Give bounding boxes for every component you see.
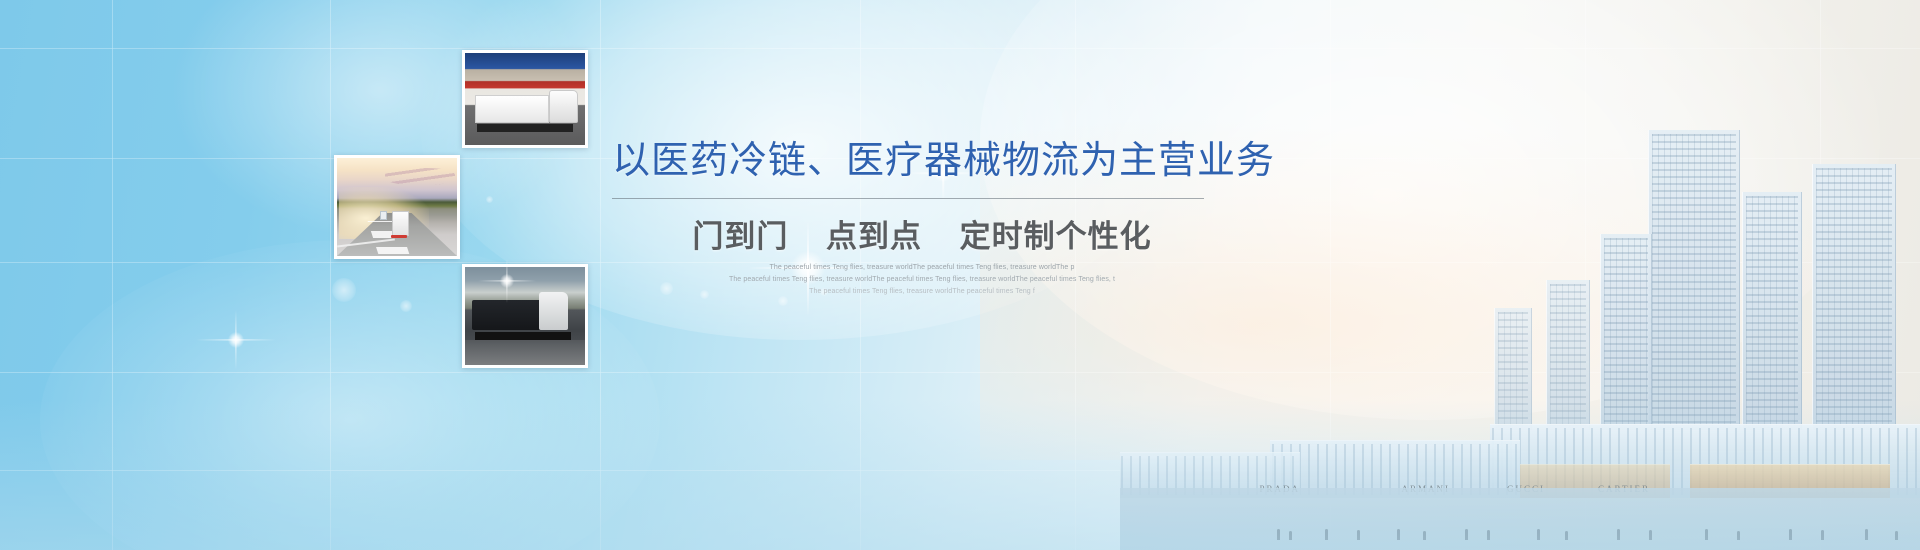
bottom-gradient-fade bbox=[0, 400, 1920, 550]
banner-copy-block: 以医药冷链、医疗器械物流为主营业务 门到门 点到点 定时制个性化 The pea… bbox=[612, 140, 1232, 298]
subhead-part-point-to-point: 点到点 bbox=[826, 219, 922, 254]
divider-rule bbox=[612, 198, 1204, 199]
banner-subheadline: 门到门 点到点 定时制个性化 bbox=[612, 211, 1232, 256]
banner-headline: 以医药冷链、医疗器械物流为主营业务 bbox=[612, 140, 1232, 184]
fineprint-line-1: The peaceful times Teng flies, treasure … bbox=[612, 262, 1232, 274]
hero-banner: PRADA ARMANI GUCCI CARTIER bbox=[0, 0, 1920, 550]
bokeh-dot-1 bbox=[332, 278, 356, 302]
subhead-part-scheduled-custom: 定时制个性化 bbox=[960, 219, 1152, 254]
subhead-part-door-to-door: 门到门 bbox=[692, 219, 788, 254]
banner-fineprint: The peaceful times Teng flies, treasure … bbox=[612, 262, 1232, 298]
photo-dark-truck-road bbox=[462, 264, 588, 368]
photo-warehouse-white-truck bbox=[462, 50, 588, 148]
fineprint-line-3: The peaceful times Teng flies, treasure … bbox=[612, 286, 1232, 298]
bokeh-dot-8 bbox=[486, 196, 493, 203]
photo-highway-sunset-truck bbox=[334, 155, 460, 259]
lens-flare-bottom bbox=[196, 300, 276, 380]
bokeh-dot-2 bbox=[400, 300, 412, 312]
fineprint-line-2: The peaceful times Teng flies, treasure … bbox=[612, 274, 1232, 286]
